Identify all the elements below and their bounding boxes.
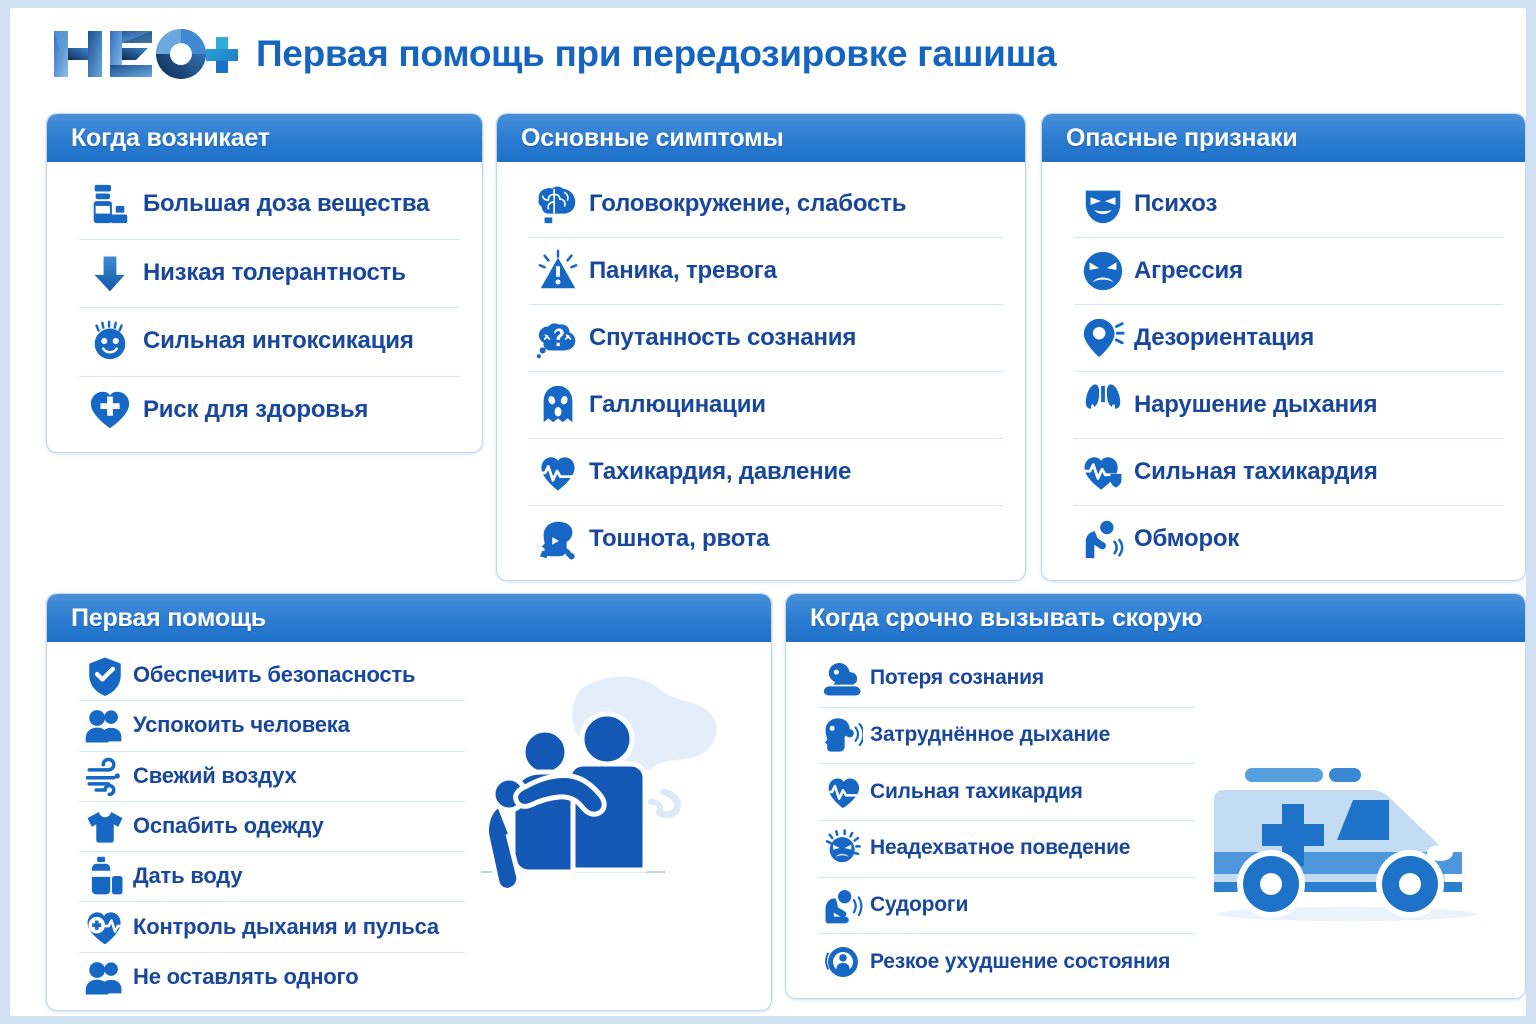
heart-pulse-icon (531, 445, 585, 499)
item-list: Головокружение, слабость Паника (513, 170, 1009, 572)
list-item-label: Дезориентация (1134, 324, 1314, 352)
card-main-symptoms: Основные симптомы (496, 113, 1026, 581)
list-item[interactable]: Нарушение дыхания (1058, 371, 1509, 438)
breathing-head-icon (820, 712, 866, 758)
list-item-label: Успокоить человека (133, 712, 350, 738)
list-item[interactable]: Оспабить одежду (63, 801, 471, 851)
card-call-ambulance: Когда срочно вызывать скорую (785, 593, 1526, 999)
ghost-icon (531, 378, 585, 432)
list-item-label: Обеспечить безопасность (133, 662, 415, 688)
list-item[interactable]: Дать воду (63, 851, 471, 901)
down-arrow-icon (81, 244, 139, 302)
two-people-comfort-illustration (467, 664, 767, 904)
evil-mask-icon (1076, 177, 1130, 231)
lungs-icon (1076, 378, 1130, 432)
list-item-label: Риск для здоровья (143, 396, 368, 424)
heart-cross-icon (81, 381, 139, 439)
unconscious-person-icon (820, 655, 866, 701)
card-title: Первая помощь (71, 604, 266, 633)
list-item-label: Сильная тахикардия (1134, 458, 1378, 486)
dizzy-head-pin-icon (1076, 311, 1130, 365)
list-item[interactable]: Резкое ухудшение состояния (802, 933, 1202, 990)
shield-check-icon (81, 651, 129, 699)
pill-bottle-icon (81, 175, 139, 233)
page-header: Первая помощь при передозировке гашиша (10, 8, 1526, 100)
list-item-label: Обморок (1134, 525, 1239, 553)
convulsion-person-icon (820, 882, 866, 928)
list-item-label: Судороги (870, 893, 968, 917)
warning-triangle-icon (531, 244, 585, 298)
list-item[interactable]: Успокоить человека (63, 700, 471, 750)
card-title: Основные симптомы (521, 124, 784, 153)
card-header: Опасные признаки (1042, 114, 1525, 162)
list-item-label: Галлюцинации (589, 391, 766, 419)
list-item[interactable]: Головокружение, слабость (513, 170, 1009, 237)
card-body: Психоз Агрессия (1042, 162, 1525, 580)
list-item-label: Психоз (1134, 190, 1217, 218)
ambulance-illustration (1197, 742, 1497, 932)
item-list: Психоз Агрессия (1058, 170, 1509, 572)
list-item-label: Неадехватное поведение (870, 836, 1130, 860)
list-item[interactable]: Сильная тахикардия (1058, 438, 1509, 505)
list-item[interactable]: Паника, тревога (513, 237, 1009, 304)
list-item[interactable]: Судороги (802, 877, 1202, 934)
fainting-person-icon (1076, 512, 1130, 566)
list-item[interactable]: Обморок (1058, 505, 1509, 572)
vomiting-head-icon (531, 512, 585, 566)
card-header: Первая помощь (47, 594, 771, 642)
item-list: Большая доза вещества Низкая толерантнос… (63, 170, 466, 444)
card-title: Когда возникает (71, 124, 270, 153)
two-people-icon (81, 953, 129, 1001)
list-item-label: Сильная интоксикация (143, 327, 414, 355)
item-list: Обеспечить безопасность Успокоить челове… (63, 650, 471, 1002)
no-entry-person-icon (820, 939, 866, 985)
neo-plus-logo (48, 23, 238, 85)
list-item[interactable]: Обеспечить безопасность (63, 650, 471, 700)
card-when-occurs: Когда возникает Большая д (46, 113, 483, 453)
brain-head-icon (531, 177, 585, 231)
list-item-label: Агрессия (1134, 257, 1243, 285)
list-item[interactable]: Свежий воздух (63, 751, 471, 801)
list-item-label: Свежий воздух (133, 763, 297, 789)
list-item-label: Паника, тревога (589, 257, 777, 285)
card-header: Основные симптомы (497, 114, 1025, 162)
list-item[interactable]: Контроль дыхания и пульса (63, 901, 471, 951)
wind-icon (81, 752, 129, 800)
thought-question-icon (531, 311, 585, 365)
list-item[interactable]: Большая доза вещества (63, 170, 466, 239)
list-item-label: Потеря сознания (870, 666, 1044, 690)
list-item[interactable]: Тахикардия, давление (513, 438, 1009, 505)
list-item[interactable]: Затруднённое дыхание (802, 707, 1202, 764)
list-item-label: Оспабить одежду (133, 813, 324, 839)
tshirt-icon (81, 802, 129, 850)
list-item[interactable]: Неадехватное поведение (802, 820, 1202, 877)
list-item[interactable]: Психоз (1058, 170, 1509, 237)
card-body: Большая доза вещества Низкая толерантнос… (47, 162, 482, 452)
list-item[interactable]: Тошнота, рвота (513, 505, 1009, 572)
item-list: Потеря сознания Затруднённое ды (802, 650, 1202, 990)
list-item[interactable]: Потеря сознания (802, 650, 1202, 707)
card-header: Когда возникает (47, 114, 482, 162)
list-item-label: Тошнота, рвота (589, 525, 769, 553)
heart-cross-pulse-icon (81, 903, 129, 951)
dizzy-face-icon (81, 312, 139, 370)
card-body: Обеспечить безопасность Успокоить челове… (47, 642, 771, 1010)
angry-face-rays-icon (820, 825, 866, 871)
heart-pulse-icon (820, 769, 866, 815)
card-title: Когда срочно вызывать скорую (810, 604, 1202, 633)
list-item[interactable]: Сильная интоксикация (63, 307, 466, 376)
list-item-label: Спутанность сознания (589, 324, 856, 352)
list-item[interactable]: Спутанность сознания (513, 304, 1009, 371)
list-item-label: Головокружение, слабость (589, 190, 906, 218)
page-title: Первая помощь при передозировке гашиша (256, 33, 1056, 75)
list-item-label: Нарушение дыхания (1134, 391, 1377, 419)
list-item-label: Контроль дыхания и пульса (133, 914, 439, 940)
list-item[interactable]: Риск для здоровья (63, 376, 466, 445)
infographic-page: Первая помощь при передозировке гашиша К… (10, 8, 1526, 1016)
list-item[interactable]: Не оставлять одного (63, 952, 471, 1002)
list-item-label: Тахикардия, давление (589, 458, 851, 486)
list-item[interactable]: Дезориентация (1058, 304, 1509, 371)
card-body: Головокружение, слабость Паника (497, 162, 1025, 580)
list-item-label: Дать воду (133, 863, 242, 889)
card-header: Когда срочно вызывать скорую (786, 594, 1525, 642)
water-bottle-icon (81, 852, 129, 900)
list-item-label: Не оставлять одного (133, 964, 358, 990)
list-item-label: Сильная тахикардия (870, 780, 1083, 804)
heart-pulse-shield-icon (1076, 445, 1130, 499)
list-item-label: Затруднённое дыхание (870, 723, 1110, 747)
list-item-label: Большая доза вещества (143, 190, 429, 218)
angry-face-icon (1076, 244, 1130, 298)
list-item-label: Резкое ухудшение состояния (870, 950, 1170, 974)
card-first-aid: Первая помощь (46, 593, 772, 1011)
two-people-icon (81, 701, 129, 749)
list-item[interactable]: Сильная тахикардия (802, 763, 1202, 820)
list-item[interactable]: Агрессия (1058, 237, 1509, 304)
list-item[interactable]: Низкая толерантность (63, 239, 466, 308)
card-body: Потеря сознания Затруднённое ды (786, 642, 1525, 998)
card-danger-signs: Опасные признаки Психоз (1041, 113, 1526, 581)
list-item-label: Низкая толерантность (143, 259, 406, 287)
list-item[interactable]: Галлюцинации (513, 371, 1009, 438)
card-title: Опасные признаки (1066, 124, 1298, 153)
